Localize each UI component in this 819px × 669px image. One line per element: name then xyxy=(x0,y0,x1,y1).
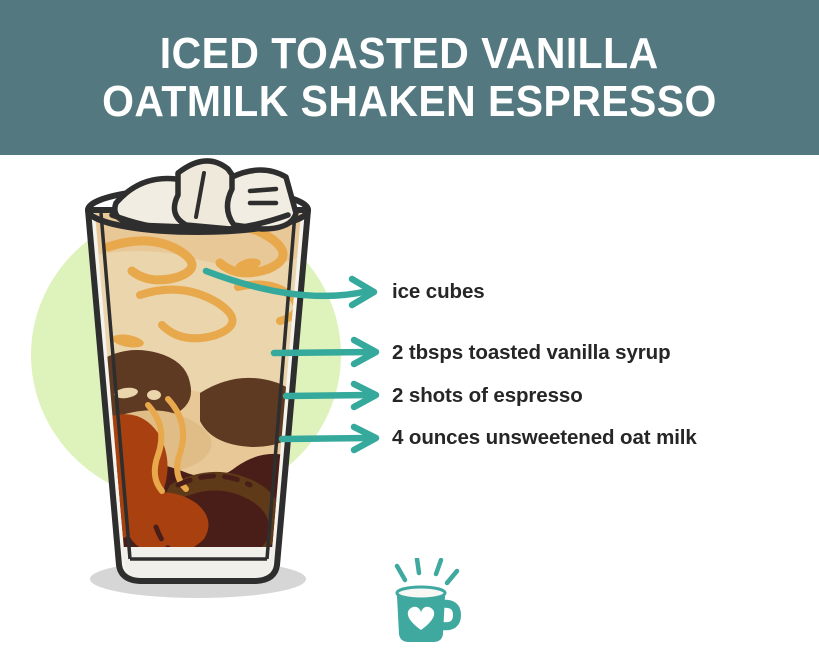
glass-base-band xyxy=(121,547,276,579)
steam-line-4 xyxy=(447,571,457,583)
callout-arrow-vanilla-syrup xyxy=(274,352,370,353)
steam-line-3 xyxy=(436,560,441,574)
callout-arrow-oat-milk xyxy=(282,438,370,439)
infographic-page: ICED TOASTED VANILLA OATMILK SHAKEN ESPR… xyxy=(0,0,819,669)
ice-cube-3 xyxy=(227,170,296,229)
callout-arrow-espresso xyxy=(286,395,370,396)
page-title-line-1: ICED TOASTED VANILLA xyxy=(160,30,659,78)
glass-icon xyxy=(72,161,320,595)
steam-line-1 xyxy=(397,566,405,580)
callout-label-ice-cubes: ice cubes xyxy=(392,280,485,304)
steam-line-2 xyxy=(417,559,419,573)
ice-facet-line-2 xyxy=(250,189,276,191)
light-speck-2 xyxy=(147,390,161,400)
callout-label-vanilla-syrup: 2 tbsps toasted vanilla syrup xyxy=(392,341,671,365)
callout-label-espresso: 2 shots of espresso xyxy=(392,384,583,408)
header-banner: ICED TOASTED VANILLA OATMILK SHAKEN ESPR… xyxy=(0,0,819,155)
coffee-mug-heart-icon xyxy=(381,558,467,650)
callout-label-oat-milk: 4 ounces unsweetened oat milk xyxy=(392,426,697,450)
brand-mug-mark xyxy=(381,558,467,650)
page-title-line-2: OATMILK SHAKEN ESPRESSO xyxy=(102,78,717,126)
